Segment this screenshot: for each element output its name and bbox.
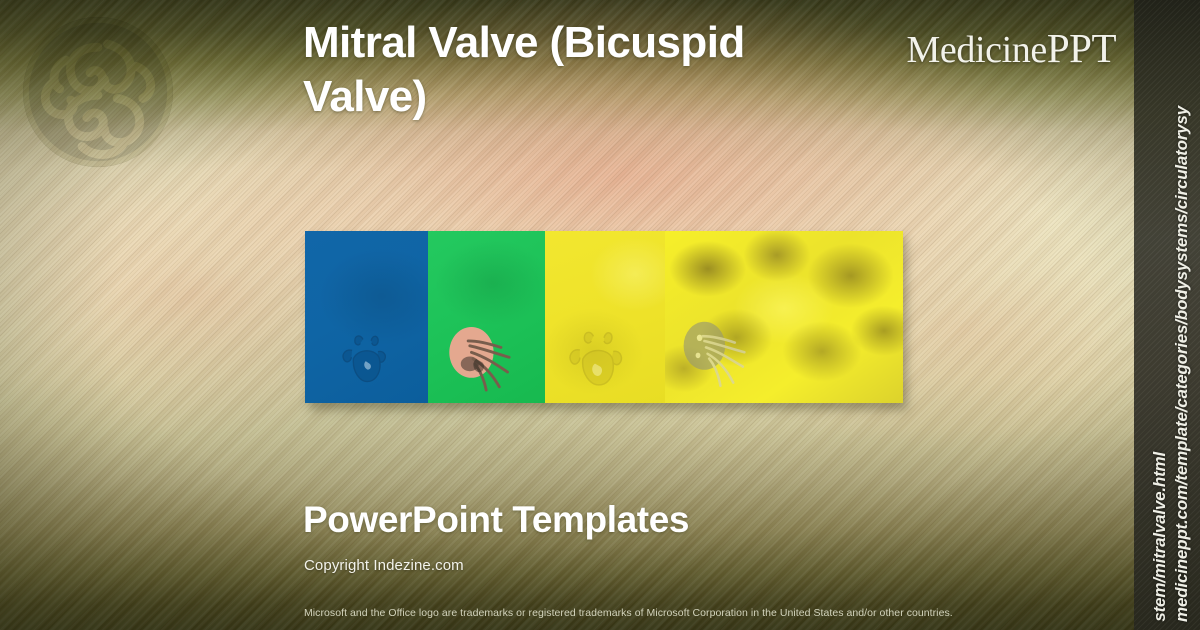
slide-preview: Mitral Valve (Bicuspid Valve) MedicinePP… xyxy=(0,0,1200,630)
page-title: Mitral Valve (Bicuspid Valve) xyxy=(303,16,863,123)
thumbnail-blue[interactable] xyxy=(305,231,428,403)
brand-logo-ppt: PPT xyxy=(1047,25,1116,71)
heart-anatomy-icon xyxy=(436,313,520,395)
thumbnail-strip xyxy=(305,231,903,403)
brand-logo-medicine: Medicine xyxy=(907,29,1047,71)
celtic-swirl-ornament-icon xyxy=(18,12,178,172)
copyright-text: Copyright Indezine.com xyxy=(304,557,464,574)
product-title: PowerPoint Templates xyxy=(303,499,689,541)
heart-anatomy-icon xyxy=(555,315,635,391)
thumbnail-yellow[interactable] xyxy=(545,231,665,403)
url-text-line-2[interactable]: stem/mitralvalve.html xyxy=(1150,452,1170,622)
legal-disclaimer: Microsoft and the Office logo are tradem… xyxy=(304,607,953,619)
brand-logo[interactable]: MedicinePPT xyxy=(907,24,1116,72)
thumbnail-yellow-mottled[interactable] xyxy=(665,231,903,403)
url-text-line-1[interactable]: medicineppt.com/template/categories/body… xyxy=(1172,106,1192,622)
heart-anatomy-icon xyxy=(329,317,397,389)
url-sidebar: medicineppt.com/template/categories/body… xyxy=(1134,0,1200,630)
thumbnail-green[interactable] xyxy=(428,231,545,403)
heart-anatomy-icon xyxy=(673,309,755,389)
